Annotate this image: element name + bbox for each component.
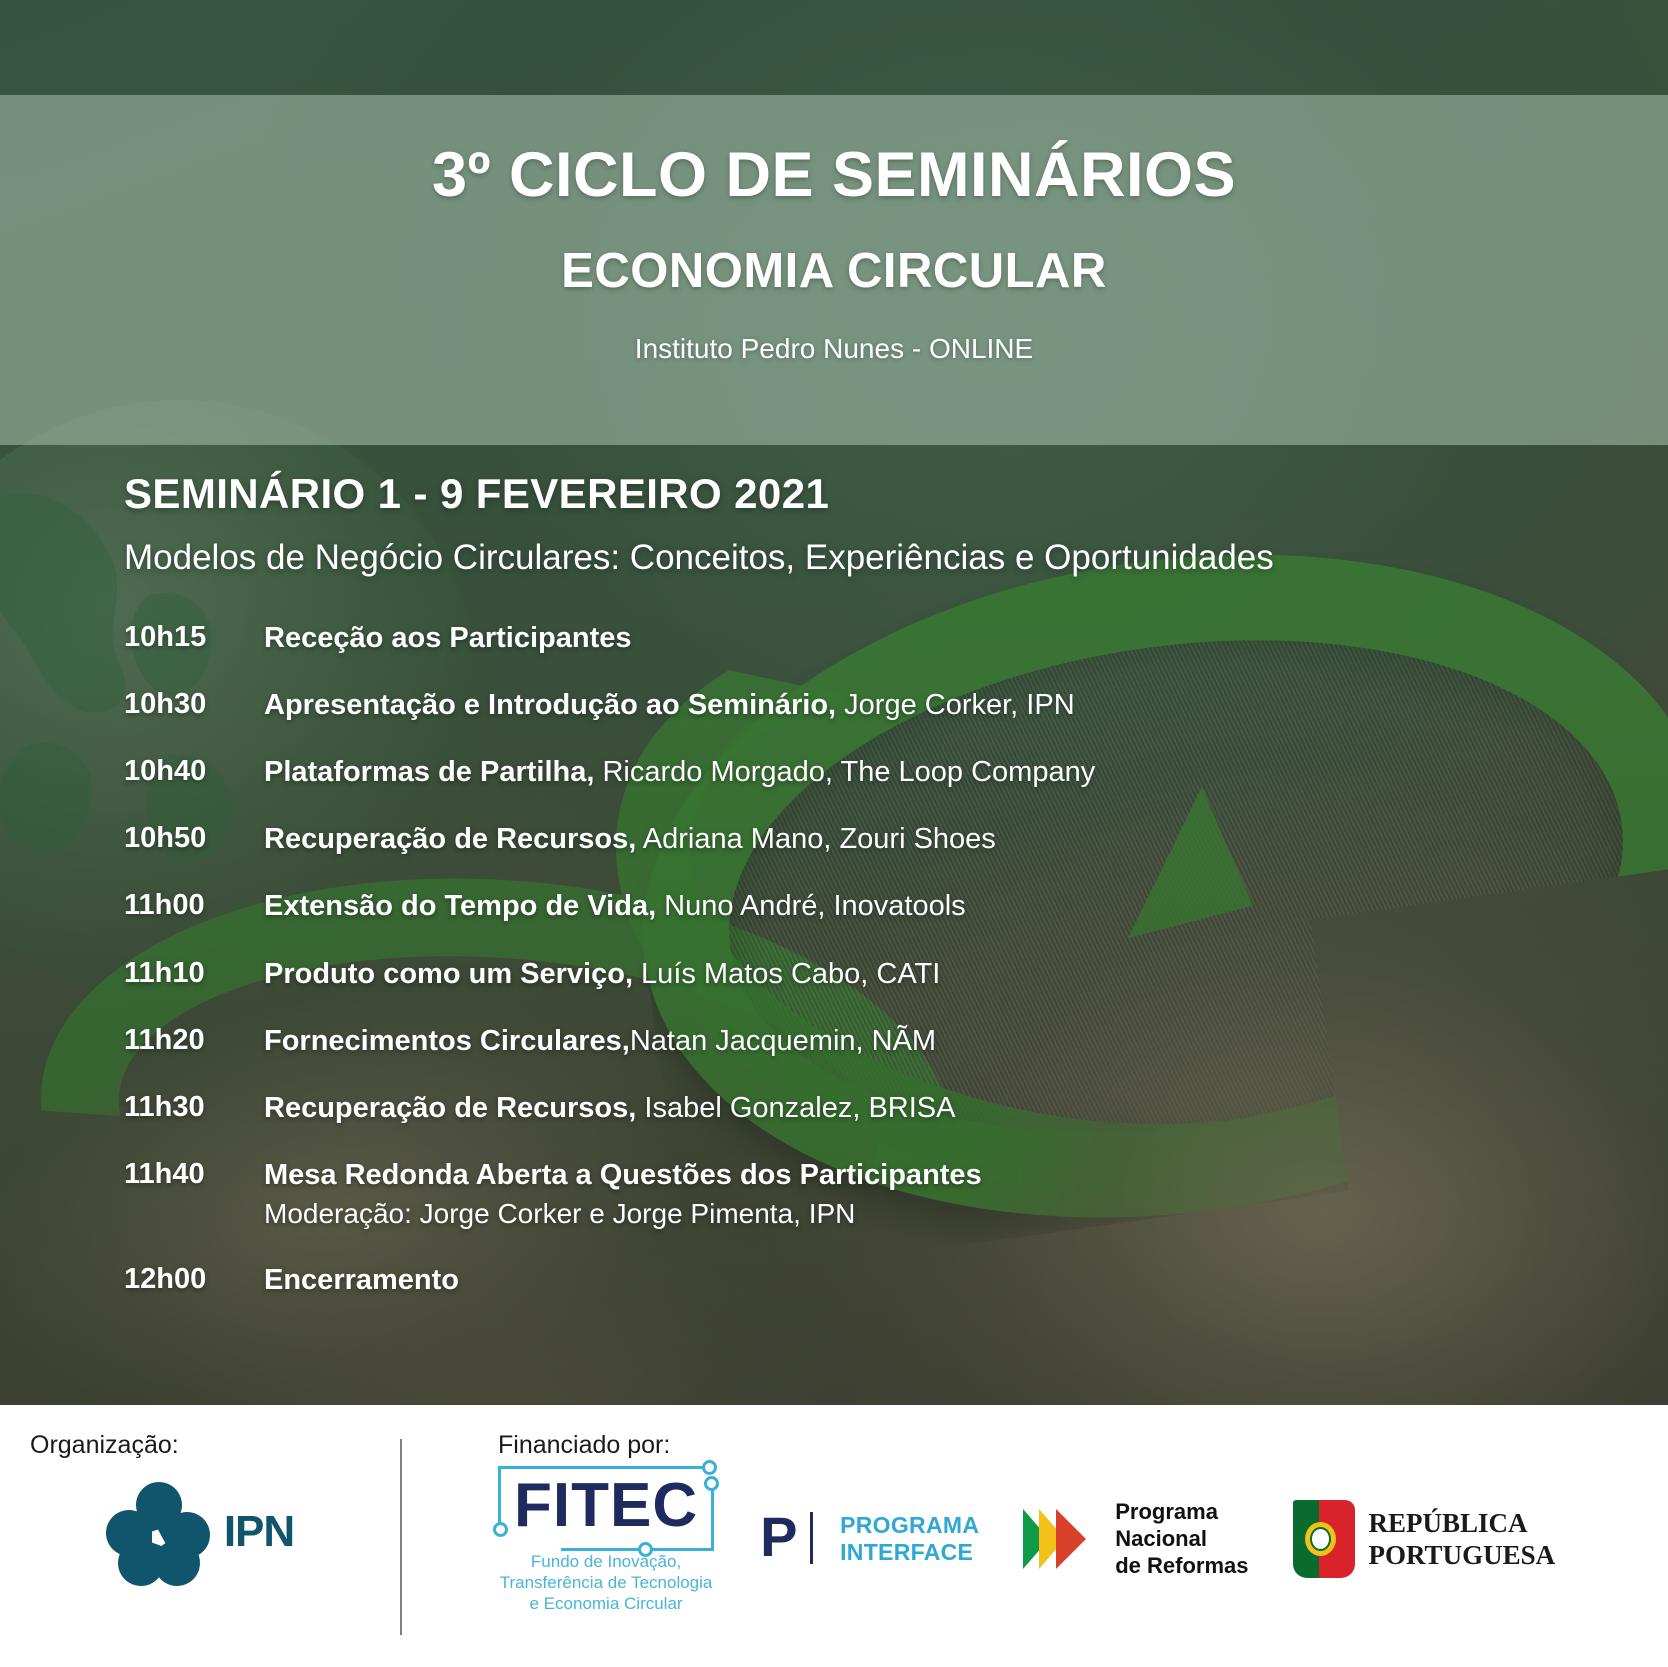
- portugal-flag-icon: [1293, 1500, 1355, 1578]
- organization-label: Organização:: [30, 1431, 179, 1460]
- interface-line-1: PROGRAMA: [840, 1512, 979, 1538]
- schedule-description: Plataformas de Partilha, Ricardo Morgado…: [264, 754, 1095, 791]
- organization-block: Organização: IPN: [0, 1405, 400, 1582]
- schedule-speaker: Isabel Gonzalez, BRISA: [636, 1092, 955, 1124]
- fitec-tagline-2: Transferência de Tecnologia: [500, 1573, 713, 1592]
- republica-line-2: PORTUGUESA: [1369, 1540, 1556, 1570]
- republica-portuguesa-logo: REPÚBLICA PORTUGUESA: [1293, 1500, 1556, 1578]
- schedule-speaker: Jorge Corker, IPN: [836, 689, 1075, 721]
- schedule-time: 10h15: [124, 620, 264, 654]
- schedule-row: 11h20Fornecimentos Circulares,Natan Jacq…: [124, 1023, 1668, 1060]
- chevron-icon: [1023, 1503, 1101, 1575]
- schedule-topic: Fornecimentos Circulares,: [264, 1025, 630, 1057]
- ipn-logo: IPN: [106, 1482, 294, 1582]
- fitec-logo: FITEC Fundo de Inovação, Transferência d…: [498, 1464, 714, 1614]
- schedule-row: 11h00Extensão do Tempo de Vida, Nuno And…: [124, 888, 1668, 925]
- event-location: Instituto Pedro Nunes - ONLINE: [635, 333, 1033, 365]
- pnr-wordmark: Programa Nacional de Reformas: [1115, 1499, 1248, 1579]
- schedule-row: 12h00Encerramento: [124, 1262, 1668, 1299]
- schedule-row: 10h15Receção aos Participantes: [124, 620, 1668, 657]
- pi-monogram-icon: P: [758, 1508, 828, 1570]
- funded-label: Financiado por:: [498, 1431, 670, 1460]
- fitec-tagline: Fundo de Inovação, Transferência de Tecn…: [500, 1551, 713, 1614]
- schedule-time: 11h40: [124, 1157, 264, 1191]
- fitec-tagline-1: Fundo de Inovação,: [531, 1552, 681, 1571]
- fitec-tagline-3: e Economia Circular: [530, 1594, 683, 1613]
- programa-nacional-reformas-logo: Programa Nacional de Reformas: [1023, 1499, 1248, 1579]
- schedule-time: 10h50: [124, 821, 264, 855]
- schedule-time: 11h00: [124, 888, 264, 922]
- schedule-topic: Produto como um Serviço,: [264, 958, 633, 990]
- poster: 3º CICLO DE SEMINÁRIOS ECONOMIA CIRCULAR…: [0, 0, 1668, 1667]
- fitec-mark: FITEC: [498, 1464, 714, 1547]
- interface-line-2: INTERFACE: [840, 1539, 973, 1565]
- schedule-speaker: Natan Jacquemin, NÃM: [630, 1025, 936, 1057]
- schedule-description: Produto como um Serviço, Luís Matos Cabo…: [264, 956, 940, 993]
- header-band: 3º CICLO DE SEMINÁRIOS ECONOMIA CIRCULAR…: [0, 95, 1668, 445]
- seminar-subtitle: Modelos de Negócio Circulares: Conceitos…: [124, 538, 1668, 578]
- republica-line-1: REPÚBLICA: [1369, 1508, 1528, 1538]
- schedule-speaker: Adriana Mano, Zouri Shoes: [636, 823, 995, 855]
- schedule-description: Receção aos Participantes: [264, 620, 632, 657]
- schedule-description: Recuperação de Recursos, Adriana Mano, Z…: [264, 821, 996, 858]
- schedule-time: 11h10: [124, 956, 264, 990]
- pnr-line-2: Nacional: [1115, 1526, 1207, 1551]
- schedule-row: 10h50Recuperação de Recursos, Adriana Ma…: [124, 821, 1668, 858]
- schedule-time: 11h20: [124, 1023, 264, 1057]
- schedule-row: 11h10Produto como um Serviço, Luís Matos…: [124, 956, 1668, 993]
- programa-interface-wordmark: PROGRAMA INTERFACE: [840, 1512, 979, 1566]
- seminar-title: SEMINÁRIO 1 - 9 FEVEREIRO 2021: [124, 470, 1668, 518]
- schedule-row: 10h30Apresentação e Introdução ao Seminá…: [124, 687, 1668, 724]
- pnr-line-1: Programa: [1115, 1499, 1218, 1524]
- programme-section: SEMINÁRIO 1 - 9 FEVEREIRO 2021 Modelos d…: [0, 470, 1668, 1329]
- funder-logo-row: FITEC Fundo de Inovação, Transferência d…: [498, 1464, 1668, 1614]
- event-subtitle: ECONOMIA CIRCULAR: [561, 243, 1107, 299]
- schedule-time: 10h40: [124, 754, 264, 788]
- schedule-row: 11h40Mesa Redonda Aberta a Questões dos …: [124, 1157, 1668, 1232]
- event-title: 3º CICLO DE SEMINÁRIOS: [432, 139, 1236, 211]
- schedule-time: 10h30: [124, 687, 264, 721]
- ipn-wordmark: IPN: [224, 1507, 294, 1557]
- schedule-moderation: Moderação: Jorge Corker e Jorge Pimenta,…: [264, 1196, 982, 1232]
- schedule-description: Fornecimentos Circulares,Natan Jacquemin…: [264, 1023, 936, 1060]
- schedule-speaker: Luís Matos Cabo, CATI: [633, 958, 940, 990]
- schedule-topic: Apresentação e Introdução ao Seminário,: [264, 689, 836, 721]
- schedule-topic: Recuperação de Recursos,: [264, 1092, 636, 1124]
- schedule-description: Mesa Redonda Aberta a Questões dos Parti…: [264, 1157, 982, 1232]
- pnr-line-3: de Reformas: [1115, 1553, 1248, 1578]
- schedule-topic: Extensão do Tempo de Vida,: [264, 890, 656, 922]
- ipn-pinwheel-icon: [106, 1482, 210, 1582]
- schedule-time: 11h30: [124, 1090, 264, 1124]
- pi-letter: P: [760, 1510, 797, 1564]
- schedule-time: 12h00: [124, 1262, 264, 1296]
- schedule-topic: Recuperação de Recursos,: [264, 823, 636, 855]
- schedule-description: Encerramento: [264, 1262, 459, 1299]
- schedule-row: 10h40Plataformas de Partilha, Ricardo Mo…: [124, 754, 1668, 791]
- schedule-topic: Receção aos Participantes: [264, 622, 632, 654]
- schedule-speaker: Nuno André, Inovatools: [656, 890, 966, 922]
- footer: Organização: IPN Financiado por:: [0, 1405, 1668, 1667]
- programa-interface-logo: P PROGRAMA INTERFACE: [758, 1508, 979, 1570]
- schedule-description: Apresentação e Introdução ao Seminário, …: [264, 687, 1075, 724]
- schedule-list: 10h15Receção aos Participantes10h30Apres…: [0, 620, 1668, 1299]
- republica-wordmark: REPÚBLICA PORTUGUESA: [1369, 1507, 1556, 1572]
- schedule-topic: Plataformas de Partilha,: [264, 756, 594, 788]
- schedule-description: Recuperação de Recursos, Isabel Gonzalez…: [264, 1090, 955, 1127]
- schedule-topic: Mesa Redonda Aberta a Questões dos Parti…: [264, 1159, 982, 1191]
- funding-block: Financiado por: FITEC Fundo de Inovação,: [402, 1405, 1668, 1614]
- schedule-topic: Encerramento: [264, 1264, 459, 1296]
- schedule-row: 11h30Recuperação de Recursos, Isabel Gon…: [124, 1090, 1668, 1127]
- schedule-speaker: Ricardo Morgado, The Loop Company: [594, 756, 1095, 788]
- schedule-description: Extensão do Tempo de Vida, Nuno André, I…: [264, 888, 966, 925]
